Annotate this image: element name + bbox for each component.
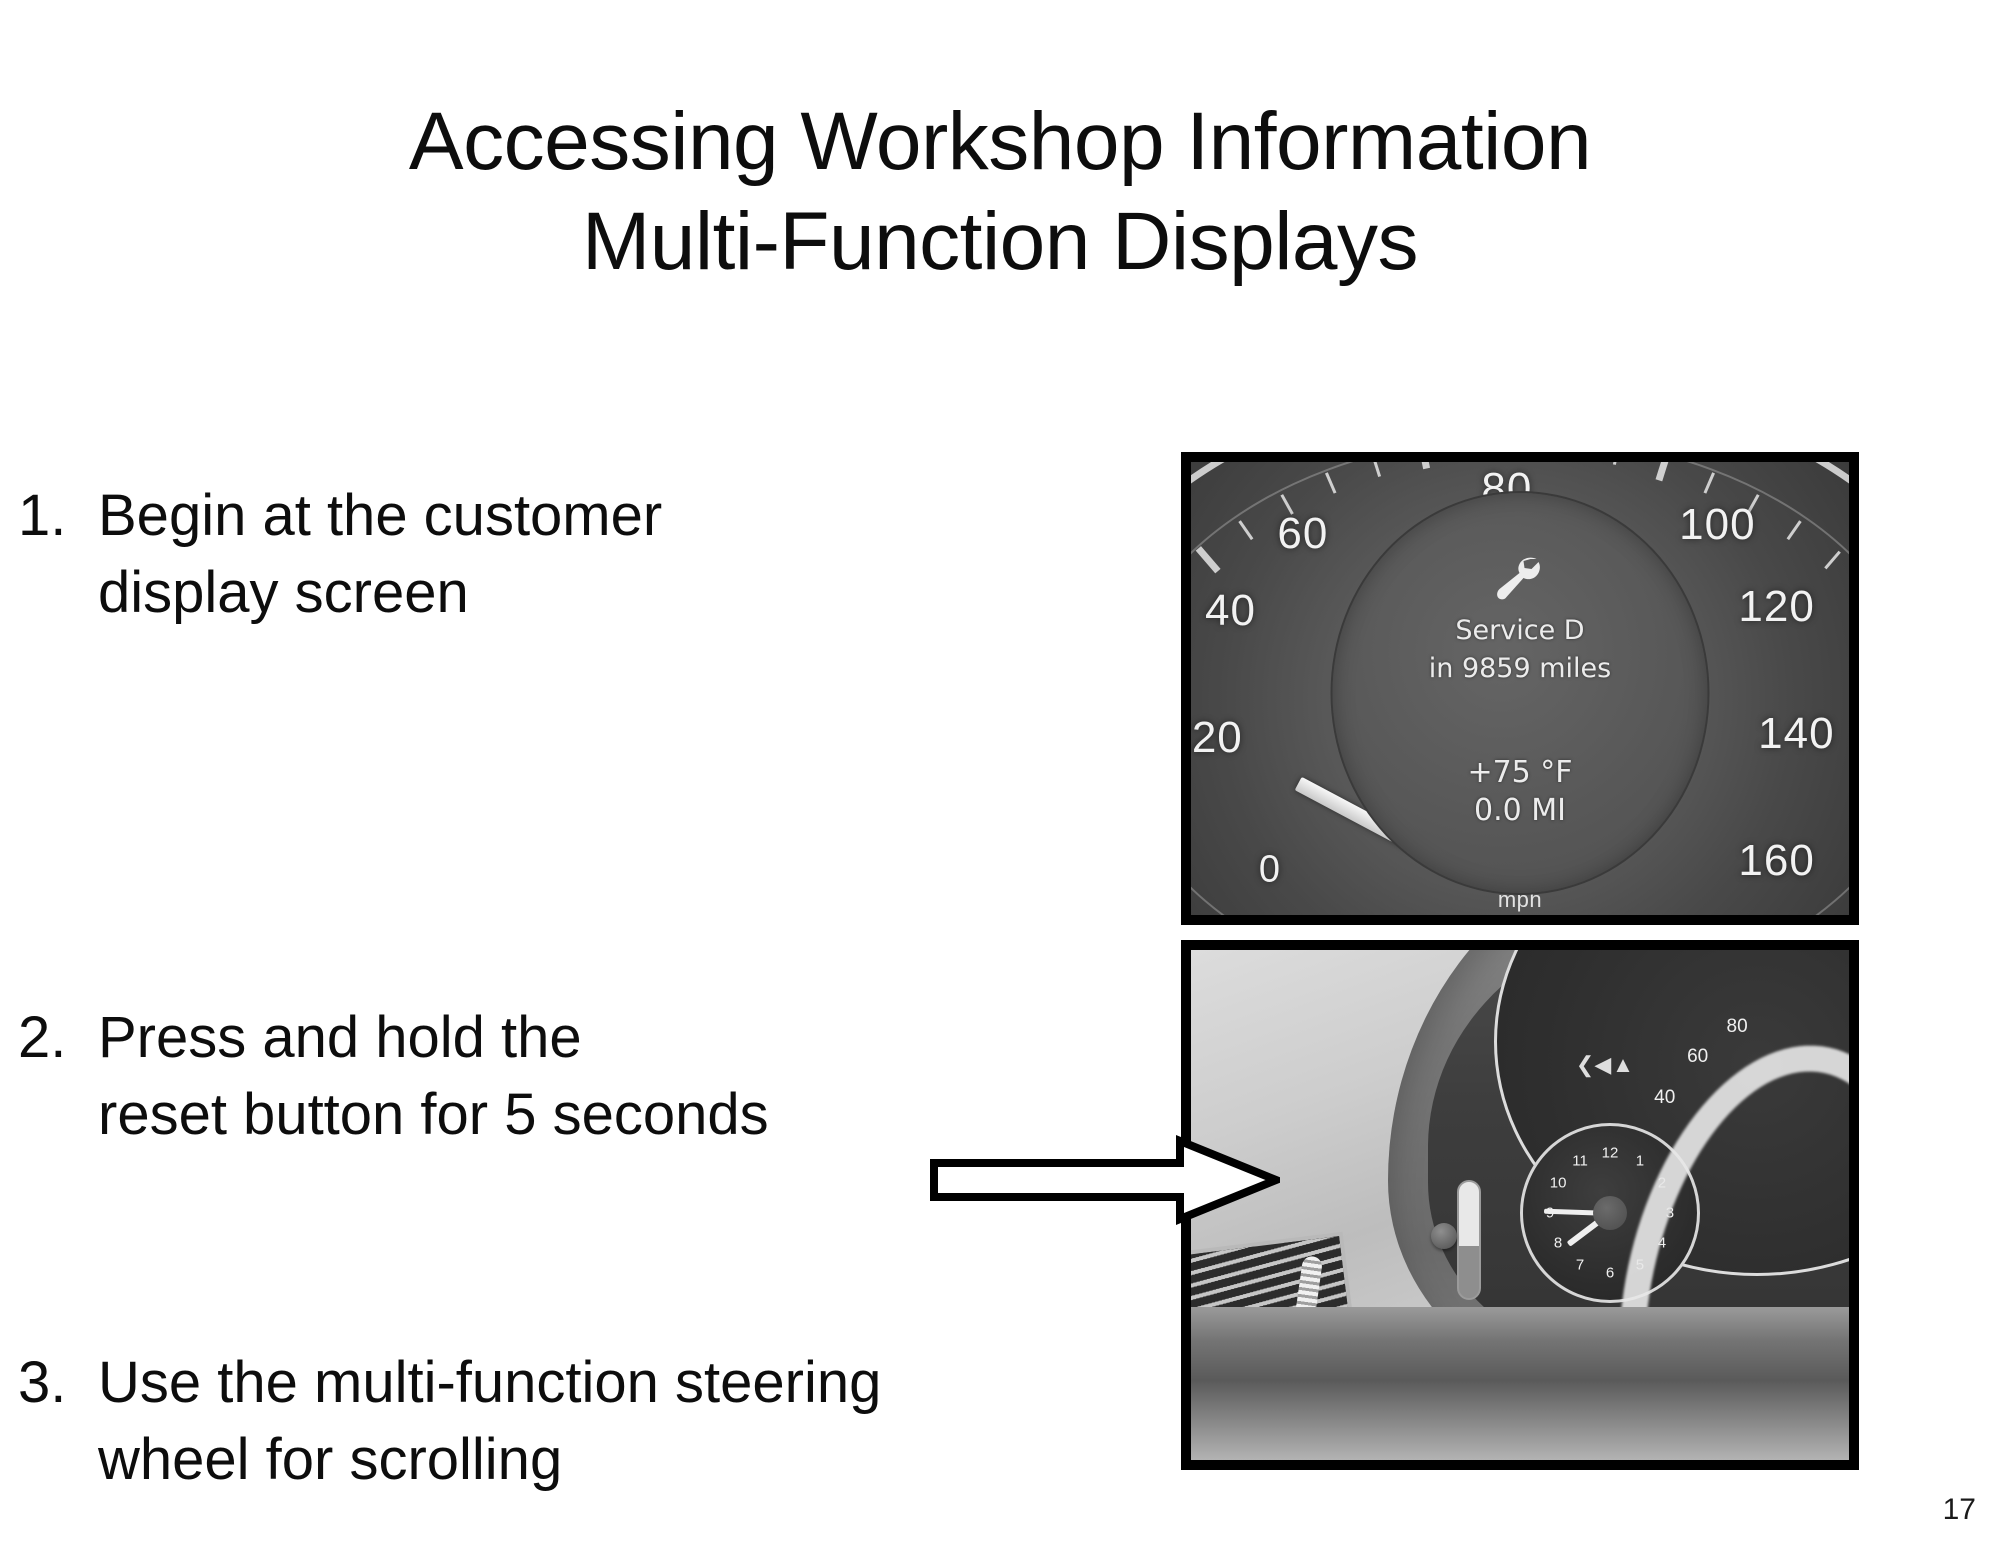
- clock-hub: [1593, 1196, 1627, 1230]
- step-item-3: 3. Use the multi-function steering wheel…: [18, 1345, 1128, 1498]
- page-number: 17: [1943, 1493, 1976, 1527]
- callout-arrow-icon: [930, 1135, 1280, 1225]
- speedo-label-100: 100: [1679, 500, 1755, 550]
- step-item-1: 1. Begin at the customer display screen: [18, 478, 1078, 631]
- step-3-number: 3.: [18, 1345, 98, 1422]
- mfd-trip-odometer-text: 0.0 MI: [1333, 793, 1708, 828]
- dash-speedo-label-40: 40: [1654, 1087, 1675, 1109]
- mfd-service-text: Service D: [1333, 615, 1708, 646]
- speedo-label-40: 40: [1205, 586, 1256, 636]
- step-2-number: 2.: [18, 1000, 98, 1077]
- step-item-2: 2. Press and hold the reset button for 5…: [18, 1000, 1078, 1153]
- high-beam-triangle-icon: ▲: [1612, 1052, 1634, 1078]
- clock-numeral: 6: [1606, 1265, 1614, 1282]
- speedo-label-0: 0: [1259, 848, 1281, 891]
- dashboard-lower-trim: [1191, 1307, 1849, 1460]
- dash-speedo-label-60: 60: [1687, 1046, 1708, 1068]
- dashboard-image: 80 60 40 20 ❮◀ ▲ 121234567891011 ⛽: [1191, 950, 1849, 1460]
- clock-numeral: 8: [1554, 1235, 1562, 1252]
- page-title: Accessing Workshop Information Multi-Fun…: [0, 92, 2000, 292]
- page-title-line-1: Accessing Workshop Information: [0, 92, 2000, 192]
- speedo-label-120: 120: [1738, 582, 1814, 632]
- multifunction-display-dial: Service D in 9859 miles +75 °F 0.0 MI: [1331, 491, 1710, 895]
- fuel-gauge: [1457, 1180, 1481, 1300]
- step-2-text: Press and hold the reset button for 5 se…: [98, 1000, 1078, 1153]
- step-1-line-1: Begin at the customer: [98, 478, 1078, 555]
- step-2-line-1: Press and hold the: [98, 1000, 1078, 1077]
- wrench-icon: [1491, 555, 1549, 608]
- step-1-text: Begin at the customer display screen: [98, 478, 1078, 631]
- speedo-label-140: 140: [1758, 709, 1834, 759]
- step-3-line-1: Use the multi-function steering: [98, 1345, 1128, 1422]
- dashboard-photo: 80 60 40 20 ❮◀ ▲ 121234567891011 ⛽: [1181, 940, 1859, 1470]
- speedo-label-60: 60: [1277, 509, 1328, 559]
- clock-numeral: 11: [1572, 1153, 1588, 1170]
- mfd-distance-text: in 9859 miles: [1333, 653, 1708, 684]
- speedo-label-20: 20: [1192, 713, 1243, 763]
- clock-numeral: 1: [1636, 1153, 1644, 1170]
- clock-numeral: 7: [1576, 1257, 1584, 1274]
- page-title-line-2: Multi-Function Displays: [0, 192, 2000, 292]
- reset-button[interactable]: [1431, 1223, 1457, 1249]
- clock-numeral: 12: [1602, 1145, 1619, 1162]
- instrument-cluster-image: 60 80 100 40 120 20 140 160 0 mph Servic…: [1191, 462, 1849, 915]
- mfd-temperature-text: +75 °F: [1333, 755, 1708, 790]
- step-1-number: 1.: [18, 478, 98, 555]
- dash-speedo-label-80: 80: [1727, 1016, 1748, 1038]
- speedo-label-160: 160: [1738, 836, 1814, 886]
- instrument-cluster-photo: 60 80 100 40 120 20 140 160 0 mph Servic…: [1181, 452, 1859, 925]
- step-1-line-2: display screen: [98, 555, 1078, 632]
- step-3-line-2: wheel for scrolling: [98, 1422, 1128, 1499]
- left-turn-arrow-icon: ❮◀: [1576, 1052, 1611, 1078]
- clock-numeral: 10: [1550, 1175, 1567, 1192]
- step-3-text: Use the multi-function steering wheel fo…: [98, 1345, 1128, 1498]
